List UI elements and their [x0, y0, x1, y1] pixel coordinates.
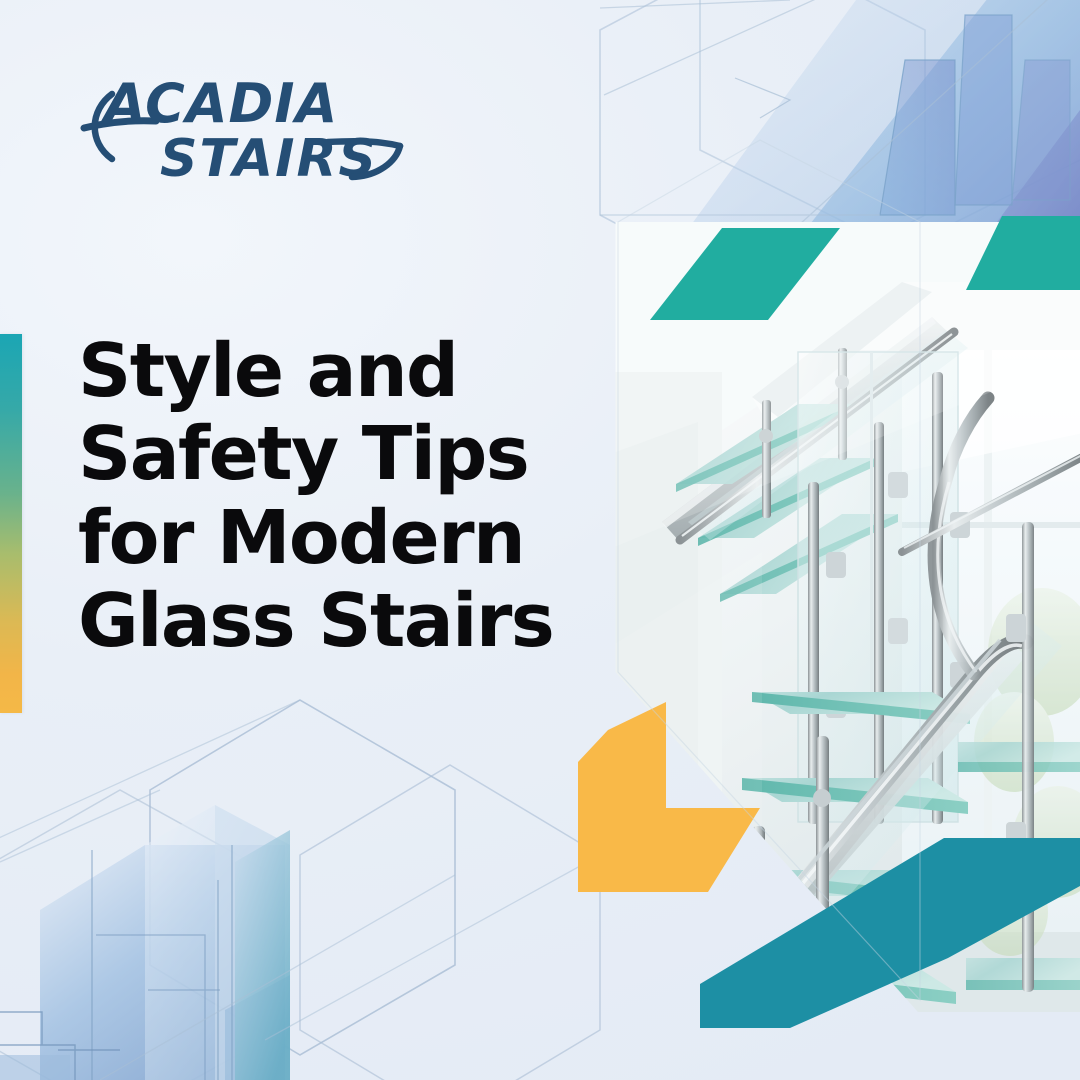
acadia-stairs-logo-icon: ACADIA STAIRS — [78, 66, 408, 191]
accent-shape-teal-top-right — [966, 216, 1080, 326]
page-title: Style and Safety Tips for Modern Glass S… — [78, 330, 618, 663]
brand-logo[interactable]: ACADIA STAIRS — [78, 66, 408, 191]
accent-shape-teal-dark-bottom — [700, 838, 1080, 1028]
accent-shape-teal-top-left — [650, 228, 840, 358]
vertical-gradient-accent-bar — [0, 334, 22, 713]
logo-word-acadia: ACADIA — [100, 72, 338, 135]
logo-word-stairs: STAIRS — [160, 129, 378, 189]
decor-bottom-left-hexagons — [0, 700, 600, 1080]
social-graphic-canvas: ACADIA STAIRS Style and Safety Tips for … — [0, 0, 1080, 1080]
